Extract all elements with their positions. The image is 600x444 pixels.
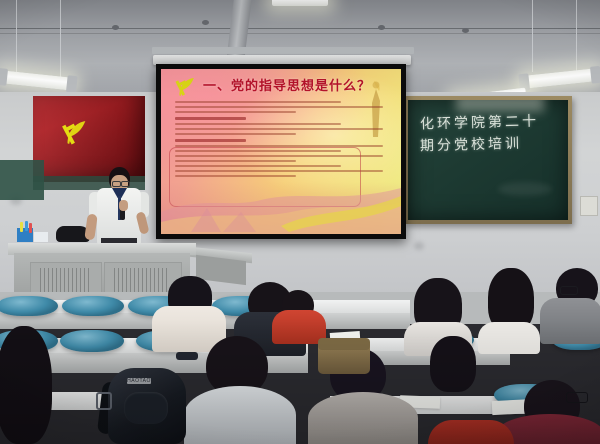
light-endcap: [0, 68, 8, 86]
ceiling-light-center: [272, 0, 328, 6]
presenter-hand: [119, 200, 128, 211]
presenter-glasses: [112, 181, 121, 187]
hair: [0, 326, 52, 444]
marker-pen: [20, 222, 23, 232]
backpack-pocket: [124, 392, 168, 424]
backpack-buckle: [96, 392, 112, 410]
side-chalkboard-edge: [0, 160, 44, 200]
seat-pad: [0, 296, 58, 316]
ceiling-bolt: [462, 28, 469, 33]
mobile-phone: [176, 352, 198, 360]
ceiling-bolt: [112, 25, 119, 30]
handbag-flap: [318, 338, 370, 350]
ceiling-bolt: [202, 20, 209, 25]
light-hanging-rod: [532, 0, 533, 72]
torso: [540, 298, 600, 344]
wall-notice: [580, 196, 598, 216]
light-endcap: [66, 75, 78, 93]
podium-vent: [114, 268, 170, 292]
marker-pen: [25, 221, 28, 231]
chalk-smudge: [498, 182, 552, 196]
light-hanging-rod: [60, 0, 61, 82]
blackboard-text-line2: 期分党校培训: [420, 133, 522, 156]
ceiling-seam: [0, 28, 600, 29]
marker-pen: [29, 223, 32, 233]
torso: [478, 322, 540, 354]
presenter-belt: [101, 238, 137, 243]
torso: [184, 386, 296, 444]
slide-body-heading: [175, 139, 246, 142]
projection-screen: 一、党的指导思想是什么？: [156, 64, 406, 239]
blackboard: 化环学院第二十 期分党校培训: [404, 96, 572, 224]
light-endcap: [590, 66, 600, 84]
seat-pad: [62, 296, 124, 316]
presenter-glasses: [121, 181, 130, 187]
podium-vent: [40, 268, 90, 292]
eyeglasses: [566, 392, 588, 403]
torso: [428, 420, 514, 444]
communist-party-flag: [33, 96, 145, 182]
chalk-box: [34, 232, 48, 242]
classroom-photo: 化环学院第二十 期分党校培训 一、党的指导思想是什么？: [0, 0, 600, 444]
screen-mount-rail: [152, 47, 414, 54]
ceiling-bolt: [378, 25, 385, 30]
light-hanging-rod: [576, 0, 577, 78]
seat-pad: [60, 330, 124, 352]
light-hanging-rod: [16, 0, 17, 76]
eyeglasses: [560, 286, 578, 295]
ceiling-seam: [0, 33, 600, 34]
torso: [308, 392, 418, 444]
blackboard-surface: 化环学院第二十 期分党校培训: [408, 100, 568, 220]
slide-title: 一、党的指导思想是什么？: [203, 75, 383, 94]
hair: [430, 336, 476, 392]
blackboard-text-line1: 化环学院第二十: [420, 110, 539, 133]
hammer-and-sickle-icon: [59, 116, 93, 150]
slide-ribbon-decoration: [161, 182, 401, 234]
presentation-slide: 一、党的指导思想是什么？: [161, 69, 401, 234]
slide-body-heading: [175, 117, 246, 120]
backpack-brand-label: HAOTAO: [127, 378, 151, 384]
slide-hammer-sickle-icon: [173, 75, 199, 99]
wall-mark: [414, 242, 424, 250]
